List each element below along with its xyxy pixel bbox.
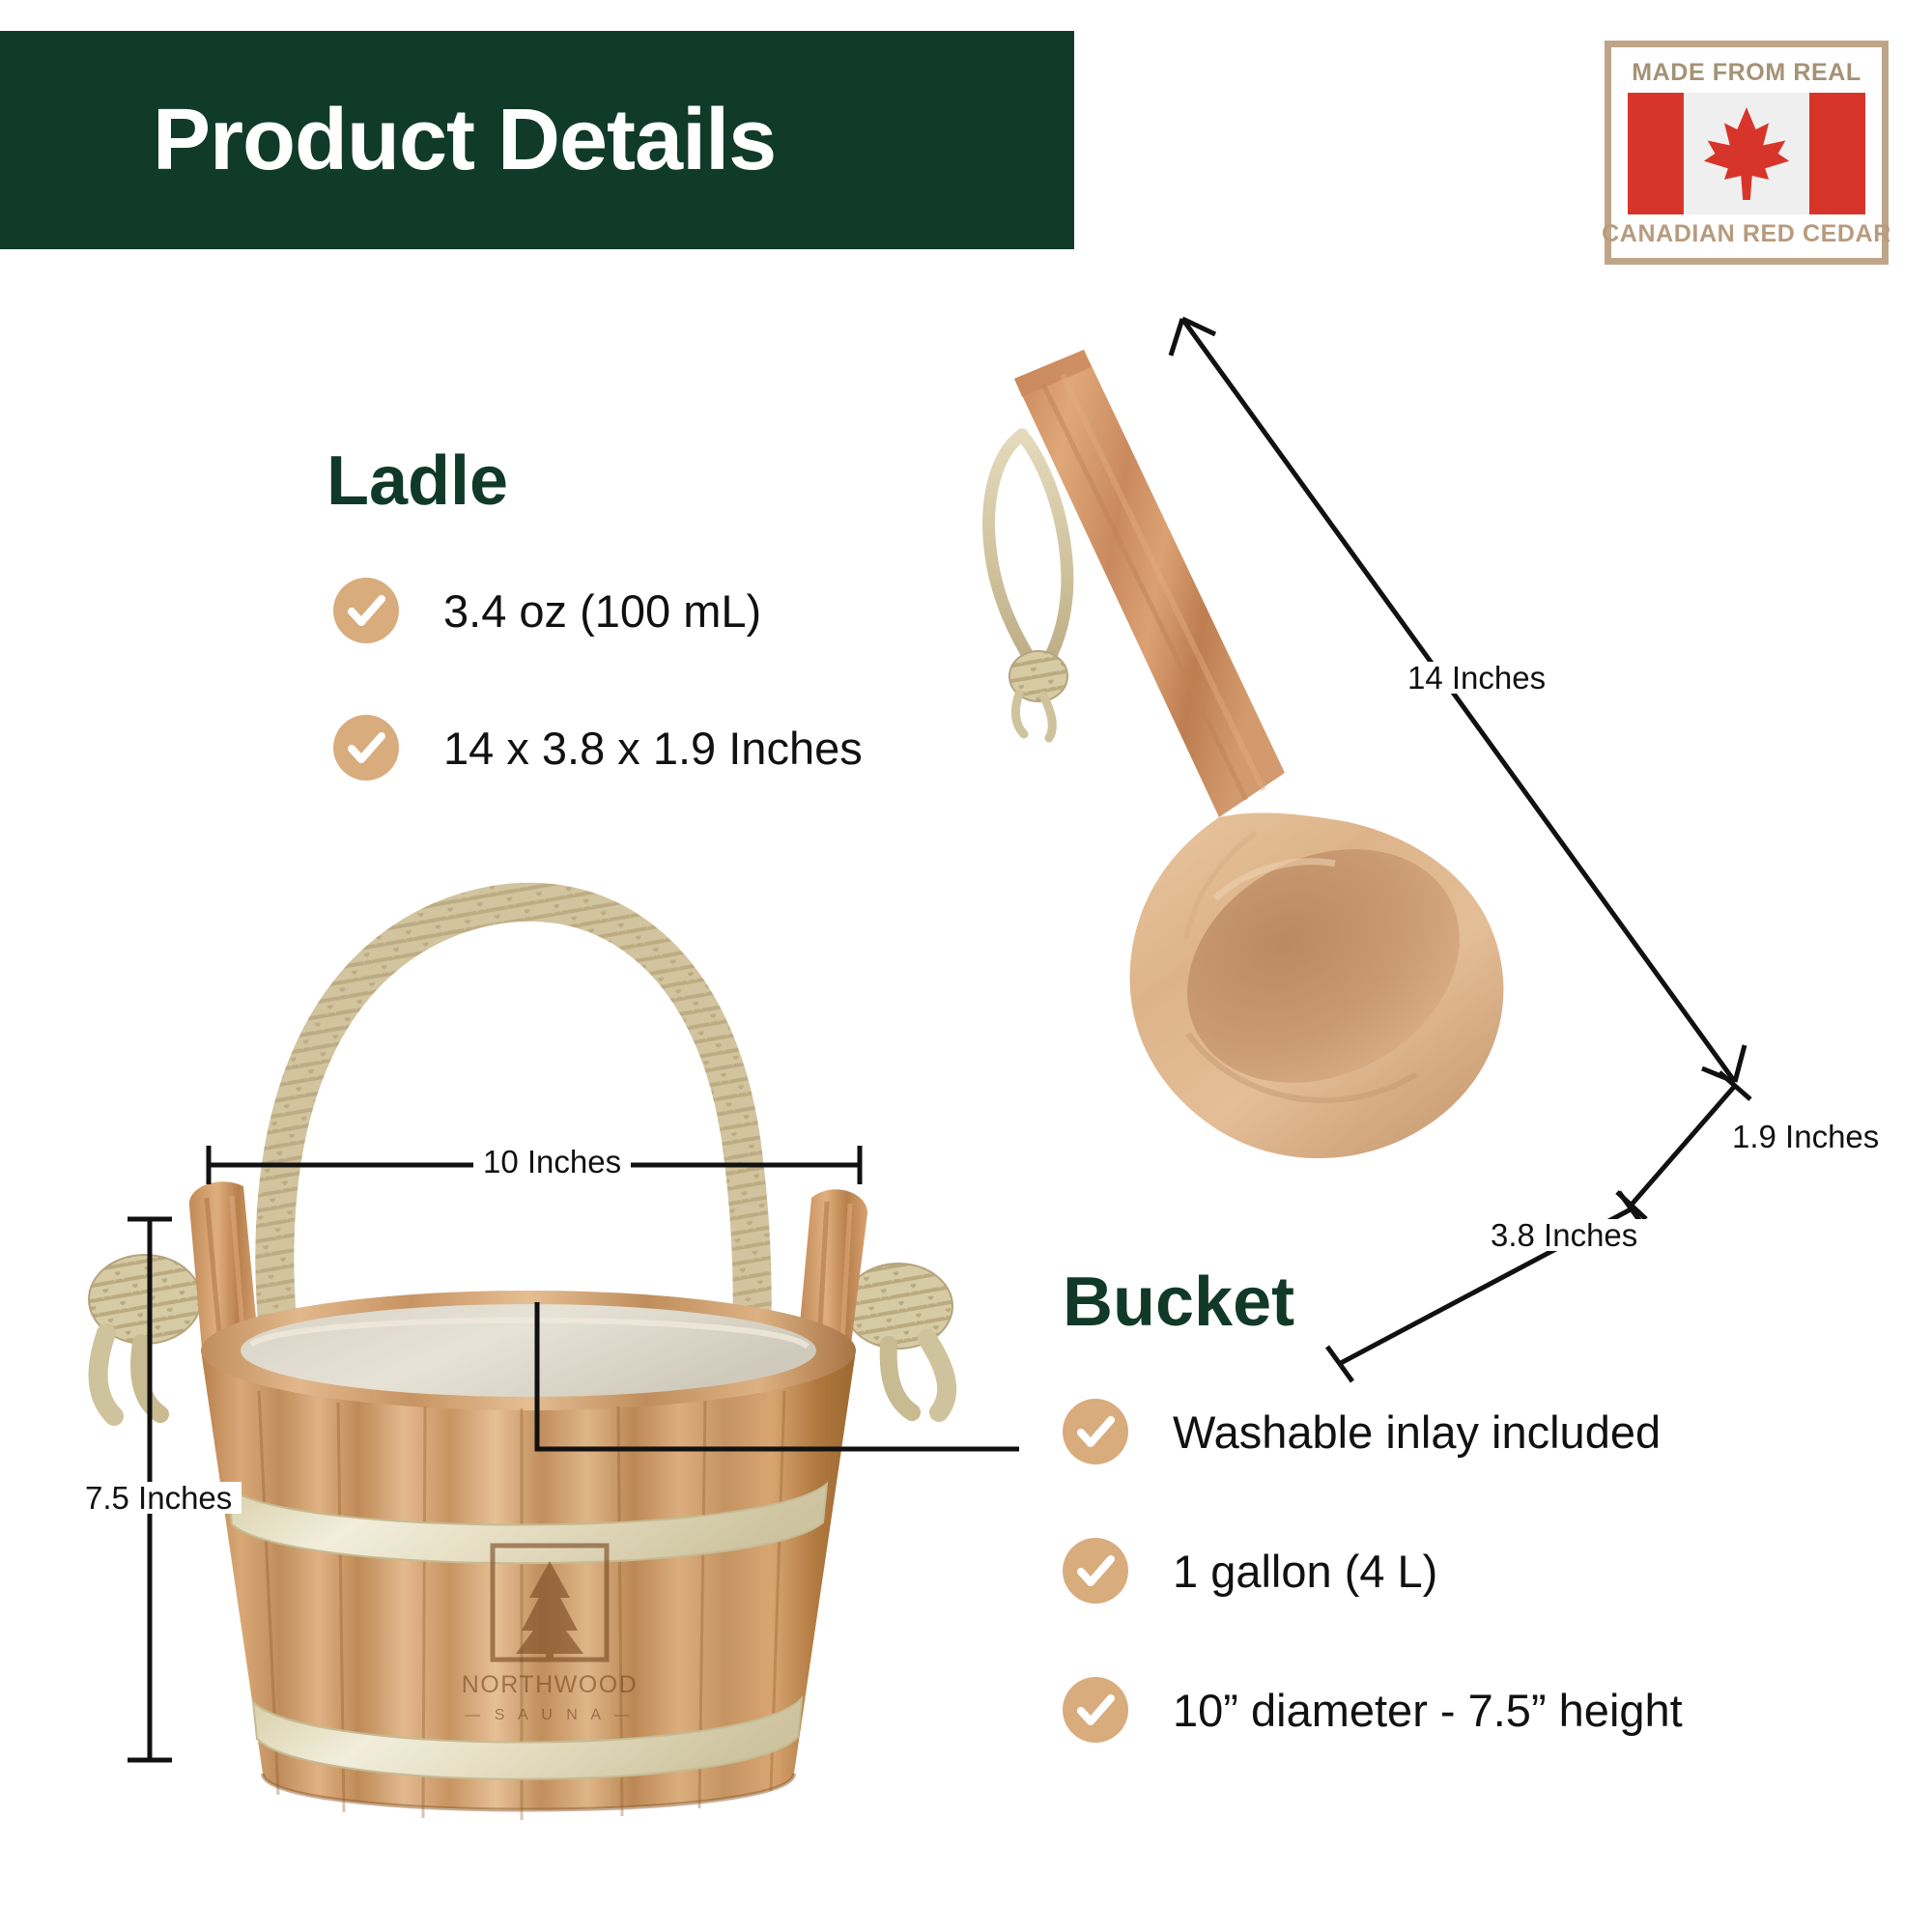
product-illustration: NORTHWOOD — S A U N A — <box>0 0 1932 1932</box>
badge-bottom-text: CANADIAN RED CEDAR <box>1602 222 1891 246</box>
bucket-rope-knot-left <box>89 1255 201 1416</box>
ladle-bullet-label: 3.4 oz (100 mL) <box>443 588 761 634</box>
bucket-bullet-inlay: Washable inlay included <box>1063 1399 1661 1464</box>
made-in-canada-badge: MADE FROM REAL CANADIAN RED CEDAR <box>1605 41 1889 265</box>
bucket-bullet-dimensions: 10” diameter - 7.5” height <box>1063 1677 1683 1743</box>
ladle-bullet-capacity: 3.4 oz (100 mL) <box>333 578 761 643</box>
dim-label-ladle-height: 1.9 Inches <box>1722 1121 1889 1152</box>
check-icon <box>1063 1399 1128 1464</box>
logo-brand-text: NORTHWOOD <box>462 1671 638 1698</box>
dim-label-ladle-length: 14 Inches <box>1398 662 1555 694</box>
bucket-bullet-label: 10” diameter - 7.5” height <box>1173 1688 1683 1733</box>
bucket-illustration: NORTHWOOD — S A U N A — <box>89 902 1019 1820</box>
logo-sub-text: — S A U N A — <box>465 1707 634 1723</box>
maple-leaf-icon <box>1700 103 1793 204</box>
ladle-section-title: Ladle <box>327 446 508 516</box>
dim-label-ladle-width: 3.8 Inches <box>1481 1219 1647 1251</box>
ladle-bullet-label: 14 x 3.8 x 1.9 Inches <box>443 725 863 771</box>
flag-right-bar <box>1809 93 1865 214</box>
bucket-section-title: Bucket <box>1063 1267 1294 1337</box>
dim-label-bucket-height: 7.5 Inches <box>75 1482 241 1514</box>
bucket-bullet-capacity: 1 gallon (4 L) <box>1063 1538 1437 1604</box>
bucket-bullet-label: 1 gallon (4 L) <box>1173 1548 1437 1594</box>
bucket-bullet-label: Washable inlay included <box>1173 1409 1661 1455</box>
check-icon <box>1063 1538 1128 1604</box>
infographic-canvas: NORTHWOOD — S A U N A — Product Detai <box>0 0 1932 1932</box>
bucket-rope-knot-right <box>844 1264 952 1412</box>
badge-top-text: MADE FROM REAL <box>1632 61 1861 85</box>
canada-flag-icon <box>1628 93 1865 214</box>
check-icon <box>333 715 399 781</box>
dim-label-bucket-diameter: 10 Inches <box>473 1146 631 1178</box>
ladle-bullet-dimensions: 14 x 3.8 x 1.9 Inches <box>333 715 863 781</box>
header-banner: Product Details <box>0 31 1074 249</box>
page-title: Product Details <box>153 97 776 184</box>
flag-left-bar <box>1628 93 1684 214</box>
ladle-rope-loop <box>989 435 1067 738</box>
check-icon <box>333 578 399 643</box>
check-icon <box>1063 1677 1128 1743</box>
